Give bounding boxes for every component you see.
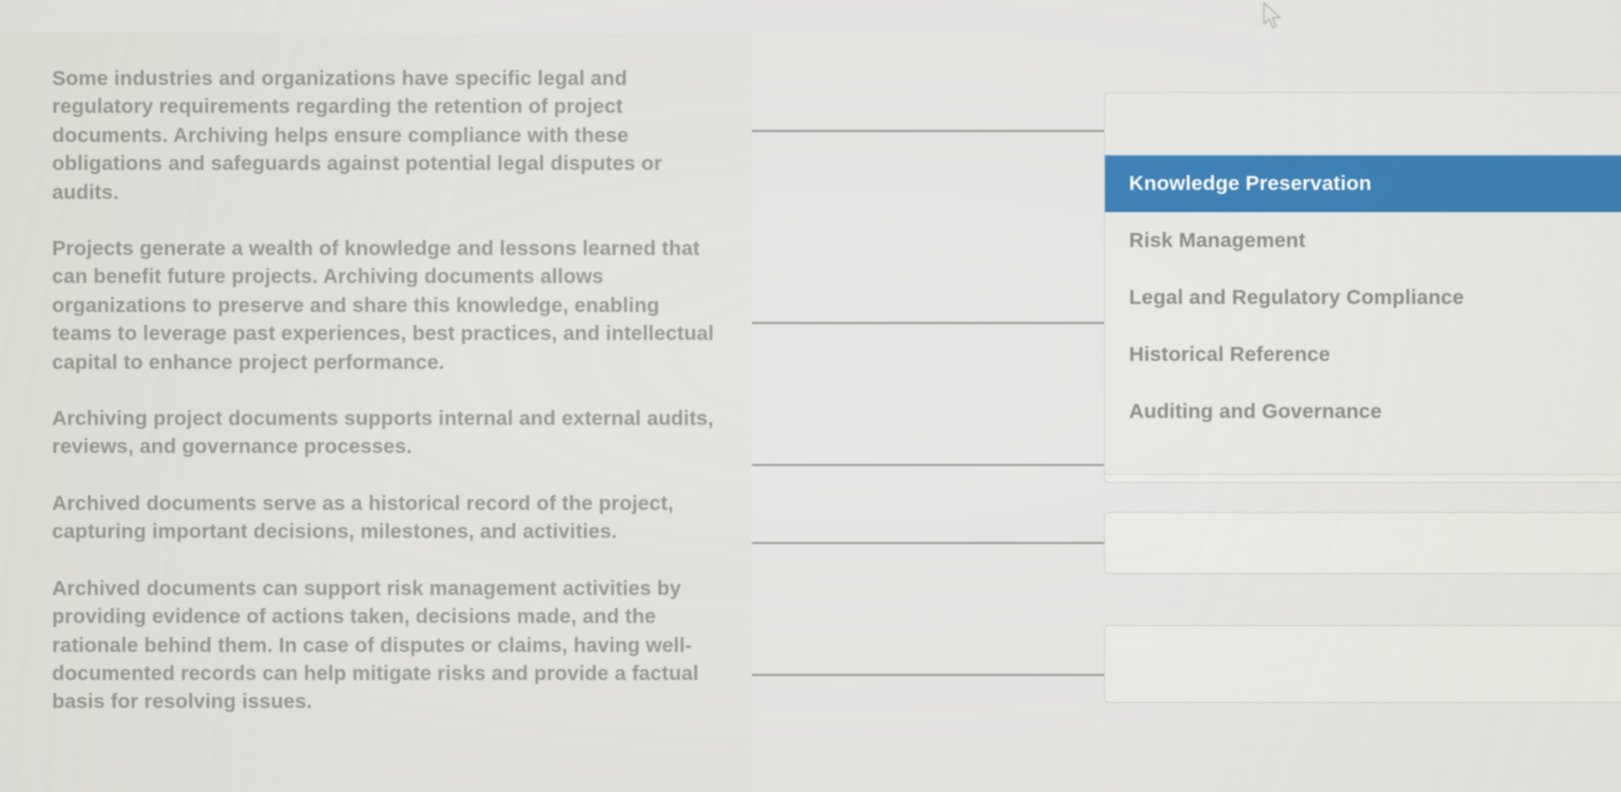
answer-option-list[interactable]: Knowledge Preservation Risk Management L… [1104,92,1621,475]
prompt-paragraph-1: Some industries and organizations have s… [52,65,722,207]
prompt-paragraph-3: Archiving project documents supports int… [52,405,722,462]
option-item-legal-and-regulatory-compliance[interactable]: Legal and Regulatory Compliance [1105,269,1621,326]
prompt-paragraph-5: Archived documents can support risk mana… [52,575,722,717]
drop-target-4[interactable] [1104,625,1621,703]
prompt-paragraph-4: Archived documents serve as a historical… [52,490,722,547]
option-list-bottom-spacer [1105,440,1621,474]
connector-line-5 [752,674,1107,676]
prompt-paragraph-2: Projects generate a wealth of knowledge … [52,235,722,377]
connector-line-2 [752,322,1107,324]
option-item-knowledge-preservation[interactable]: Knowledge Preservation [1105,155,1621,212]
connector-line-3 [752,464,1107,466]
option-item-auditing-and-governance[interactable]: Auditing and Governance [1105,383,1621,440]
prompt-text-panel: Some industries and organizations have s… [0,33,752,792]
connector-line-4 [752,542,1107,544]
drop-target-3[interactable] [1104,512,1621,574]
mouse-cursor-arrow-icon [1262,2,1284,32]
option-item-historical-reference[interactable]: Historical Reference [1105,326,1621,383]
option-item-risk-management[interactable]: Risk Management [1105,212,1621,269]
connector-line-1 [752,130,1107,132]
option-list-top-spacer [1105,93,1621,155]
